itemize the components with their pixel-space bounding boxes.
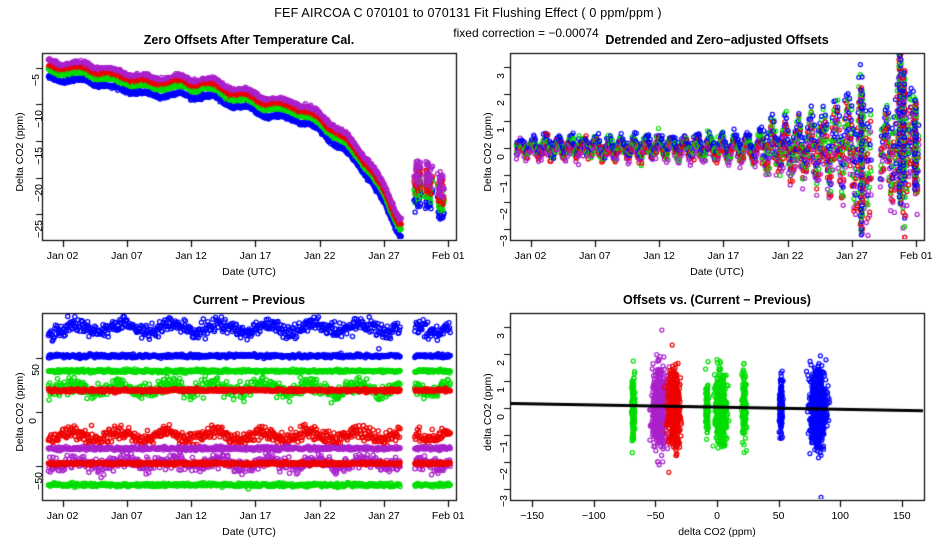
- panel-bottom-left-xtick-2: Jan 12: [175, 510, 207, 522]
- panel-top-left-xtick-3: Jan 17: [240, 250, 272, 262]
- panel-bottom-right-ytick-1: 2: [495, 360, 507, 366]
- panel-bottom-right-xtick-4: 50: [773, 510, 785, 522]
- figure-suptitle: FEF AIRCOA C 070101 to 070131 Fit Flushi…: [274, 6, 662, 20]
- panel-top-left-xtick-2: Jan 12: [175, 250, 207, 262]
- panel-top-left-xtick-0: Jan 02: [47, 250, 79, 262]
- panel-top-left-ytick-1: −10: [33, 110, 45, 128]
- ylabel-bottom-left: Delta CO2 (ppm): [14, 372, 26, 451]
- panel-bottom-right-xtick-6: 150: [893, 510, 911, 522]
- ylabel-bottom-right: delta CO2 (ppm): [482, 373, 494, 451]
- figure-root: FEF AIRCOA C 070101 to 070131 Fit Flushi…: [0, 0, 936, 540]
- panel-title-top-left: Zero Offsets After Temperature Cal.: [144, 33, 354, 47]
- panel-bottom-right-ytick-0: 3: [495, 333, 507, 339]
- panel-title-bottom-right: Offsets vs. (Current − Previous): [623, 293, 811, 307]
- panel-top-left-xtick-4: Jan 22: [304, 250, 336, 262]
- panel-top-right-ytick-3: 0: [495, 154, 507, 160]
- panel-top-right-ytick-4: −1: [498, 181, 510, 193]
- panel-bottom-right-ytick-2: 1: [495, 387, 507, 393]
- panel-top-left-xtick-5: Jan 27: [368, 250, 400, 262]
- xlabel-bottom-left: Date (UTC): [222, 526, 276, 538]
- panel-title-bottom-left: Current − Previous: [193, 293, 305, 307]
- panel-bottom-right-xtick-0: −150: [520, 510, 544, 522]
- panel-bottom-left-xtick-0: Jan 02: [47, 510, 79, 522]
- panel-top-right-ytick-5: −2: [498, 208, 510, 220]
- panel-top-right-ytick-1: 2: [495, 100, 507, 106]
- panel-bottom-left-xtick-1: Jan 07: [111, 510, 143, 522]
- panel-top-right-ytick-6: −3: [498, 235, 510, 247]
- panel-top-left-ytick-0: −5: [30, 74, 42, 86]
- panel-bottom-left-xtick-5: Jan 27: [368, 510, 400, 522]
- panel-top-left-ytick-3: −20: [33, 184, 45, 202]
- panel-top-right-xtick-6: Feb 01: [900, 250, 933, 262]
- panel-top-right-xtick-3: Jan 17: [708, 250, 740, 262]
- panel-top-right-xtick-0: Jan 02: [515, 250, 547, 262]
- xlabel-top-left: Date (UTC): [222, 266, 276, 278]
- panel-top-left-xtick-1: Jan 07: [111, 250, 143, 262]
- panel-bottom-right-xtick-3: 0: [714, 510, 720, 522]
- panel-bottom-right-ytick-3: 0: [495, 414, 507, 420]
- panel-bottom-right-xtick-1: −100: [582, 510, 606, 522]
- plot-canvas: [0, 0, 936, 540]
- figure-subnote: fixed correction = −0.00074: [453, 26, 598, 40]
- xlabel-top-right: Date (UTC): [690, 266, 744, 278]
- panel-bottom-left-ytick-2: −50: [33, 472, 45, 490]
- panel-bottom-right-xtick-5: 100: [831, 510, 849, 522]
- panel-top-right-xtick-2: Jan 12: [643, 250, 675, 262]
- panel-bottom-right-ytick-6: −3: [498, 495, 510, 507]
- ylabel-top-left: Delta CO2 (ppm): [14, 112, 26, 191]
- panel-bottom-right-ytick-4: −1: [498, 441, 510, 453]
- panel-top-left-xtick-6: Feb 01: [432, 250, 465, 262]
- panel-bottom-left-xtick-3: Jan 17: [240, 510, 272, 522]
- panel-bottom-left-xtick-6: Feb 01: [432, 510, 465, 522]
- panel-bottom-left-ytick-0: 50: [30, 364, 42, 376]
- panel-top-right-xtick-4: Jan 22: [772, 250, 804, 262]
- panel-bottom-right-ytick-5: −2: [498, 468, 510, 480]
- panel-title-top-right: Detrended and Zero−adjusted Offsets: [605, 33, 828, 47]
- ylabel-top-right: Delta CO2 (ppm): [482, 112, 494, 191]
- panel-top-right-xtick-1: Jan 07: [579, 250, 611, 262]
- xlabel-bottom-right: delta CO2 (ppm): [678, 526, 756, 538]
- panel-top-right-ytick-0: 3: [495, 73, 507, 79]
- panel-top-left-ytick-4: −25: [33, 220, 45, 238]
- panel-top-right-ytick-2: 1: [495, 127, 507, 133]
- panel-bottom-left-xtick-4: Jan 22: [304, 510, 336, 522]
- panel-top-left-ytick-2: −15: [33, 147, 45, 165]
- panel-bottom-right-xtick-2: −50: [646, 510, 664, 522]
- panel-bottom-left-ytick-1: 0: [27, 418, 39, 424]
- panel-top-right-xtick-5: Jan 27: [836, 250, 868, 262]
